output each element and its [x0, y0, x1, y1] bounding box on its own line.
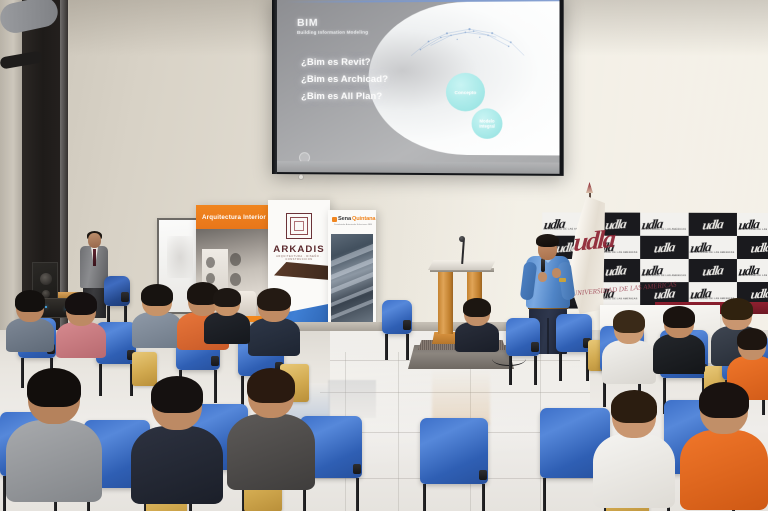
presenter-watch: [559, 278, 566, 282]
podium-reflection: [432, 369, 490, 425]
photo-decor-dot: [230, 273, 241, 286]
audience-person-torso: [593, 434, 675, 508]
backdrop-udla-mark: udlaUNIVERSIDAD DE LAS AMERICAS: [641, 262, 688, 280]
audience-person-hair: [663, 306, 695, 328]
backdrop-udla-mark: udla: [750, 240, 768, 254]
slide-question-1: ¿Bim es Revit?: [301, 56, 371, 67]
backdrop-logo-tile: udlaUNIVERSIDAD DE LAS AMERICAS: [689, 236, 737, 259]
sena-wordmark-part2: Quintana: [352, 216, 375, 222]
audience-person-hair: [721, 298, 753, 320]
network-graphic: [406, 15, 529, 80]
projection-screen: BIM Building Information Modeling ¿Bim e…: [272, 0, 564, 176]
chair-leg: [406, 334, 409, 360]
audience-person-torso: [204, 312, 250, 344]
whiteboard-smudge: [167, 236, 193, 278]
wall-edge-left: [0, 0, 24, 330]
suit-tie: [93, 249, 96, 266]
audience-person-hair: [213, 288, 241, 307]
backdrop-udla-tagline: UNIVERSIDAD DE LAS AMERICAS: [641, 275, 686, 277]
backdrop-logo-tile: udlaUNIVERSIDAD DE LAS AMERICAS: [737, 259, 768, 282]
audience-person-torso: [455, 322, 499, 352]
audience-person-hair: [611, 390, 657, 423]
backdrop-logo-tile: udlaUNIVERSIDAD DE LAS AMERICAS: [640, 259, 689, 282]
chair-leg: [423, 484, 426, 511]
logo-square: [294, 221, 304, 231]
audience-person-torso: [56, 322, 106, 358]
speaker-driver-icon: [40, 273, 52, 285]
audience-person-torso: [248, 318, 300, 356]
chair-leg: [99, 364, 102, 396]
backdrop-udla-tagline: UNIVERSIDAD DE LAS AMERICAS: [690, 252, 735, 254]
slide-subtitle: Building Information Modeling: [297, 30, 368, 35]
podium-column-left: [438, 268, 453, 334]
presenter-hair: [536, 234, 559, 247]
slide-question-3: ¿Bim es All Plan?: [301, 90, 382, 101]
photo-decor-dot: [206, 257, 215, 268]
chair-leg: [356, 478, 359, 511]
slide-question-2: ¿Bim es Archicad?: [301, 73, 388, 84]
slide-bubble-concepto: Concepto: [446, 73, 485, 112]
chair-leg: [214, 370, 217, 403]
backdrop-udla-mark: udla: [653, 240, 675, 254]
banner-brown-shape: [274, 262, 330, 280]
projection-screen-surface: BIM Building Information Modeling ¿Bim e…: [277, 0, 560, 164]
audience-person-hair: [15, 290, 45, 312]
backdrop-logo-tile: udla: [737, 236, 768, 259]
audience-person-hair: [151, 376, 203, 413]
sena-wordmark-part1: Sena: [338, 216, 351, 222]
chair-leg: [509, 356, 512, 385]
chair-leg: [534, 356, 537, 385]
presenter-hand-left: [538, 272, 547, 282]
screen-left-frame: [272, 0, 277, 174]
sena-sublines: Distribuidor Autorizado Soluciones BIM: [334, 224, 372, 227]
chair-hinge: [121, 292, 129, 302]
podium-microphone-icon: [459, 236, 465, 242]
audience-person-torso: [6, 420, 102, 502]
amp-led-icon: [45, 306, 47, 308]
audience-person-torso: [132, 312, 182, 348]
audience-person-torso: [602, 340, 656, 384]
banner-header-bar: Arquitectura Interior: [196, 205, 268, 229]
backdrop-udla-mark: udlaUNIVERSIDAD DE LAS AMERICAS: [689, 239, 736, 256]
banner-header-text: Arquitectura Interior: [202, 214, 266, 221]
backdrop-udla-mark: udlaUNIVERSIDAD DE LAS AMERICAS: [641, 216, 688, 233]
screen-bottom-bar: [277, 161, 560, 174]
arkadis-wordmark: ARKADIS: [268, 244, 330, 255]
photo-decor-dot: [230, 253, 241, 266]
chair-leg: [385, 334, 388, 360]
floor-tile-line: [398, 352, 399, 511]
chair-hinge: [211, 356, 219, 366]
audience-person-torso: [131, 426, 223, 504]
audience-person-hair: [27, 368, 81, 407]
presenter-leg-gap: [547, 318, 549, 354]
audience-person-torso: [680, 430, 768, 510]
presenter-hand-right: [552, 268, 561, 278]
suit-head: [88, 233, 101, 248]
chair-leg: [482, 484, 485, 511]
audience-person-torso: [227, 414, 315, 490]
slide-title: BIM: [297, 17, 318, 29]
audience-person-hair: [65, 292, 97, 315]
backdrop-udla-tagline: UNIVERSIDAD DE LAS AMERICAS: [738, 229, 768, 231]
conference-room-photo: BIM Building Information Modeling ¿Bim e…: [0, 0, 768, 511]
backdrop-udla-mark: udlaUNIVERSIDAD DE LAS AMERICAS: [738, 216, 768, 233]
chair-leg: [559, 352, 562, 381]
chair-hinge: [479, 470, 487, 480]
sena-architecture-photo: [331, 234, 373, 324]
backdrop-udla-mark: udla: [702, 263, 724, 277]
audience-person-torso: [653, 334, 705, 374]
handheld-microphone-icon: [541, 258, 545, 272]
chair-hinge: [531, 342, 539, 352]
screen-mount-icon: [298, 174, 304, 180]
backdrop-udla-mark: udlaUNIVERSIDAD DE LAS AMERICAS: [738, 262, 768, 279]
backdrop-logo-tile: udlaUNIVERSIDAD DE LAS AMERICAS: [640, 213, 689, 236]
backdrop-udla-tagline: UNIVERSIDAD DE LAS AMERICAS: [738, 275, 768, 277]
chair-leg: [543, 478, 546, 511]
sena-logo-icon: [332, 217, 337, 222]
backdrop-logo-tile: udlaUNIVERSIDAD DE LAS AMERICAS: [737, 213, 768, 236]
audience-person-hair: [613, 310, 645, 333]
audience-person-hair: [247, 368, 295, 403]
column-highlight: [60, 0, 70, 330]
backdrop-udla-tagline: UNIVERSIDAD DE LAS AMERICAS: [641, 229, 686, 231]
audience-person-hair: [257, 288, 291, 311]
flag-udla-mark: udla: [573, 226, 615, 256]
banner-reflection: [328, 380, 376, 418]
slide-bubble-modelo-integral: Modelo Integral: [472, 108, 503, 139]
arkadis-logo-icon: [286, 213, 312, 239]
chair-leg: [21, 358, 24, 388]
audience-person-hair: [699, 382, 749, 418]
backdrop-udla-mark: udla: [702, 217, 724, 231]
backdrop-logo-tile: udla: [640, 236, 689, 259]
backdrop-udla-mark: udla: [750, 286, 768, 300]
sena-quintana-logo: Sena Quintana: [332, 216, 375, 222]
backdrop-udla-mark: udla: [605, 263, 627, 277]
audience-person-hair: [141, 284, 173, 306]
backdrop-logo-tile: udla: [689, 259, 737, 282]
audience-chair[interactable]: [420, 418, 488, 484]
audience-person-hair: [463, 298, 491, 317]
arkadis-tagline: ARQUITECTURA · DISEÑO · CONSTRUCCION: [268, 255, 330, 261]
chair-hinge: [353, 464, 361, 474]
audience-person-hair: [737, 328, 767, 350]
audience-person-torso: [6, 318, 54, 352]
chair-writing-tablet[interactable]: [132, 352, 157, 386]
chair-hinge: [403, 320, 411, 330]
backdrop-logo-tile: udla: [689, 213, 737, 236]
